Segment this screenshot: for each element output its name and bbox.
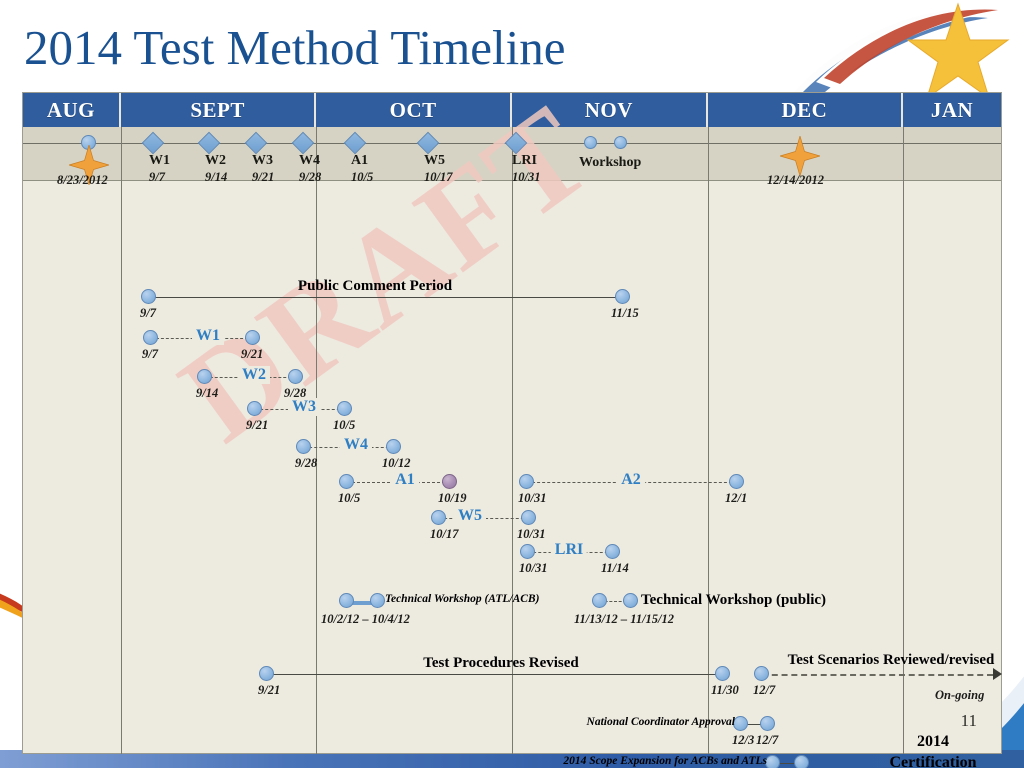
milestone-date-w2: 9/14	[205, 170, 227, 185]
task-end-date-a1-span: 10/19	[438, 491, 466, 506]
task-end-marker-test-procedures-revised[interactable]	[715, 666, 730, 681]
milestone-label-workshop: Workshop	[579, 155, 641, 171]
milestone-date-w3: 9/21	[252, 170, 274, 185]
task-end-date-a2-span: 12/1	[725, 491, 747, 506]
task-label-a1-span: A1	[391, 471, 419, 489]
task-end-date-public-comment-period: 11/15	[611, 306, 639, 321]
slide-number: 11	[961, 711, 977, 731]
task-label-public-comment-period: Public Comment Period	[298, 278, 452, 295]
task-start-marker-technical-workshop-atl-acb[interactable]	[339, 593, 354, 608]
month-cell-dec: DEC	[708, 93, 904, 127]
task-start-marker-test-procedures-revised[interactable]	[259, 666, 274, 681]
milestone-label-lri: LRI	[512, 153, 537, 169]
month-cell-jan: JAN	[903, 93, 1001, 127]
shooting-star-logo	[790, 0, 1024, 101]
task-start-date-w3-span: 9/21	[246, 418, 268, 433]
task-start-date-test-procedures-revised: 9/21	[258, 683, 280, 698]
milestone-label-w4: W4	[299, 153, 320, 169]
arrow-icon-test-scenarios-reviewed-revised	[993, 668, 1002, 680]
task-start-date-test-scenarios-reviewed-revised: 12/7	[753, 683, 775, 698]
milestone-date-w4: 9/28	[299, 170, 321, 185]
timeline-frame: AUGSEPTOCTNOVDECJAN DRAFT 8/23/2012W19/7…	[22, 92, 1002, 754]
month-label: JAN	[931, 98, 973, 123]
month-label: DEC	[781, 98, 827, 123]
task-end-date-w3-span: 10/5	[333, 418, 355, 433]
task-connector-test-scenarios-reviewed-revised	[762, 674, 993, 676]
task-connector-public-comment-period	[149, 297, 623, 298]
month-separator-1	[121, 127, 122, 754]
footer-label-certification-begins: 2014CertificationBegins	[889, 731, 976, 768]
task-end-marker-technical-workshop-public[interactable]	[623, 593, 638, 608]
month-label: SEPT	[190, 98, 245, 123]
milestone-label-w3: W3	[252, 153, 273, 169]
task-end-date-national-coordinator-approval: 12/7	[756, 733, 778, 748]
task-label-w2-span: W2	[238, 366, 270, 384]
task-label-scope-expansion: 2014 Scope Expansion for ACBs and ATLs	[563, 755, 767, 767]
task-range-label-technical-workshop-public: 11/13/12 – 11/15/12	[574, 612, 674, 627]
task-label-w3-span: W3	[288, 398, 320, 416]
milestone-date-kickoff: 8/23/2012	[57, 173, 108, 188]
task-connector-test-procedures-revised	[267, 674, 723, 675]
task-end-date-test-procedures-revised: 11/30	[711, 683, 739, 698]
task-range-label-technical-workshop-atl-acb: 10/2/12 – 10/4/12	[321, 612, 410, 627]
task-end-marker-w1-span[interactable]	[245, 330, 260, 345]
task-end-marker-a1-span[interactable]	[442, 474, 457, 489]
milestone-date-w5: 10/17	[424, 170, 452, 185]
task-end-date-w1-span: 9/21	[241, 347, 263, 362]
task-label-w4-span: W4	[340, 436, 372, 454]
task-end-marker-a2-span[interactable]	[729, 474, 744, 489]
task-start-marker-national-coordinator-approval[interactable]	[733, 716, 748, 731]
task-start-marker-w5-span[interactable]	[431, 510, 446, 525]
milestone-dot-workshop-2[interactable]	[614, 136, 627, 149]
task-start-date-national-coordinator-approval: 12/3	[732, 733, 754, 748]
milestone-label-a1: A1	[351, 153, 368, 169]
task-start-date-w1-span: 9/7	[142, 347, 158, 362]
task-start-marker-technical-workshop-public[interactable]	[592, 593, 607, 608]
task-start-date-w5-span: 10/17	[430, 527, 458, 542]
task-end-date-w4-span: 10/12	[382, 456, 410, 471]
month-label: OCT	[390, 98, 437, 123]
task-start-marker-w4-span[interactable]	[296, 439, 311, 454]
task-end-date-w5-span: 10/31	[517, 527, 545, 542]
task-label-lri-span: LRI	[551, 541, 587, 559]
milestone-date-w1: 9/7	[149, 170, 165, 185]
task-start-marker-a2-span[interactable]	[519, 474, 534, 489]
task-label-national-coordinator-approval: National Coordinator Approval	[587, 716, 735, 728]
milestone-label-w5: W5	[424, 153, 445, 169]
month-cell-oct: OCT	[316, 93, 512, 127]
task-end-marker-w3-span[interactable]	[337, 401, 352, 416]
task-end-marker-scope-expansion[interactable]	[794, 755, 809, 768]
month-label: AUG	[47, 98, 95, 123]
task-end-marker-w5-span[interactable]	[521, 510, 536, 525]
task-end-marker-lri-span[interactable]	[605, 544, 620, 559]
star-icon-posted	[780, 136, 820, 176]
milestone-label-w2: W2	[205, 153, 226, 169]
task-start-date-w4-span: 9/28	[295, 456, 317, 471]
task-start-date-w2-span: 9/14	[196, 386, 218, 401]
task-start-marker-public-comment-period[interactable]	[141, 289, 156, 304]
task-start-marker-w2-span[interactable]	[197, 369, 212, 384]
month-cell-aug: AUG	[23, 93, 121, 127]
month-separator-4	[708, 127, 709, 754]
month-separator-2	[316, 127, 317, 754]
task-start-marker-test-scenarios-reviewed-revised[interactable]	[754, 666, 769, 681]
task-end-date-lri-span: 11/14	[601, 561, 629, 576]
task-start-marker-w1-span[interactable]	[143, 330, 158, 345]
task-end-marker-public-comment-period[interactable]	[615, 289, 630, 304]
task-label-a2-span: A2	[617, 471, 645, 489]
milestone-dot-workshop-1[interactable]	[584, 136, 597, 149]
task-start-date-a2-span: 10/31	[518, 491, 546, 506]
month-header-row: AUGSEPTOCTNOVDECJAN	[23, 93, 1001, 127]
task-label-w5-span: W5	[454, 507, 486, 525]
task-start-date-public-comment-period: 9/7	[140, 306, 156, 321]
milestone-label-w1: W1	[149, 153, 170, 169]
task-start-marker-w3-span[interactable]	[247, 401, 262, 416]
task-label-test-procedures-revised: Test Procedures Revised	[423, 655, 579, 672]
month-cell-nov: NOV	[512, 93, 708, 127]
task-label-test-scenarios-reviewed-revised: Test Scenarios Reviewed/revised	[788, 652, 995, 669]
task-start-date-a1-span: 10/5	[338, 491, 360, 506]
task-end-marker-technical-workshop-atl-acb[interactable]	[370, 593, 385, 608]
milestone-date-lri: 10/31	[512, 170, 540, 185]
page-title: 2014 Test Method Timeline	[24, 22, 566, 74]
task-end-label-test-scenarios-reviewed-revised: On-going	[935, 688, 984, 703]
month-label: NOV	[585, 98, 633, 123]
task-end-marker-w4-span[interactable]	[386, 439, 401, 454]
task-start-marker-a1-span[interactable]	[339, 474, 354, 489]
footer-label-line: Certification	[889, 752, 976, 768]
slide-canvas: 2014 Test Method Timeline AUGSEPTOCTNOVD…	[0, 0, 1024, 768]
milestone-date-a1: 10/5	[351, 170, 373, 185]
task-start-date-lri-span: 10/31	[519, 561, 547, 576]
milestone-date-posted: 12/14/2012	[767, 173, 824, 188]
footer-label-line: 2014	[889, 731, 976, 752]
task-start-marker-lri-span[interactable]	[520, 544, 535, 559]
task-label-w1-span: W1	[192, 327, 224, 345]
task-label-technical-workshop-public: Technical Workshop (public)	[641, 592, 826, 609]
task-end-marker-national-coordinator-approval[interactable]	[760, 716, 775, 731]
task-label-technical-workshop-atl-acb: Technical Workshop (ATL/ACB)	[385, 593, 539, 605]
month-cell-sept: SEPT	[121, 93, 317, 127]
task-end-marker-w2-span[interactable]	[288, 369, 303, 384]
